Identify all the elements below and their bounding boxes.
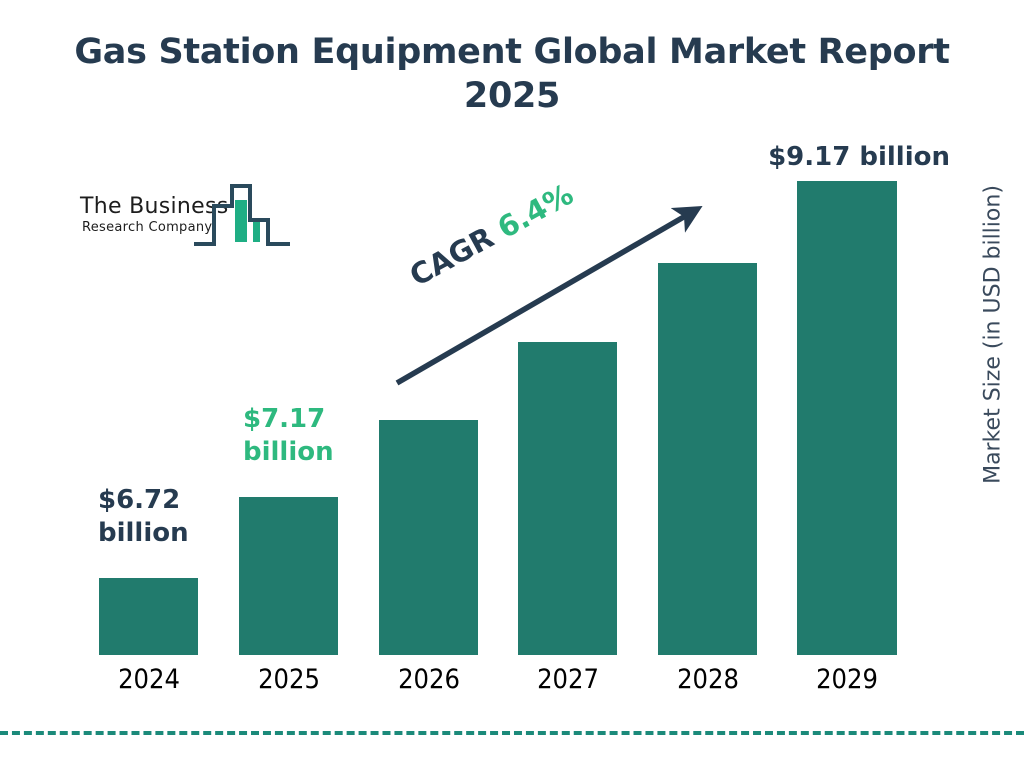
x-axis-label-2024: 2024 <box>79 664 219 695</box>
bar-2029 <box>797 181 897 655</box>
x-axis-label-2029: 2029 <box>777 664 917 695</box>
value-label-2025-unit: billion <box>243 436 373 469</box>
bar-2025 <box>239 497 338 655</box>
value-label-2024-amount: $6.72 <box>98 484 228 517</box>
value-label-2029: $9.17 billion <box>640 141 950 174</box>
x-axis-label-2028: 2028 <box>638 664 778 695</box>
value-label-2024: $6.72 billion <box>98 484 228 551</box>
bar-2027 <box>518 342 617 655</box>
bar-chart-plot <box>0 0 1024 768</box>
x-axis-label-2026: 2026 <box>359 664 499 695</box>
bottom-dashed-divider <box>0 731 1024 735</box>
value-label-2024-unit: billion <box>98 517 228 550</box>
x-axis-label-2027: 2027 <box>498 664 638 695</box>
value-label-2025: $7.17 billion <box>243 403 373 470</box>
x-axis-label-2025: 2025 <box>219 664 359 695</box>
value-label-2025-amount: $7.17 <box>243 403 373 436</box>
bar-2026 <box>379 420 478 655</box>
chart-canvas: Gas Station Equipment Global Market Repo… <box>0 0 1024 768</box>
y-axis-title: Market Size (in USD billion) <box>981 170 1006 500</box>
bar-2028 <box>658 263 757 655</box>
bar-2024 <box>99 578 198 655</box>
